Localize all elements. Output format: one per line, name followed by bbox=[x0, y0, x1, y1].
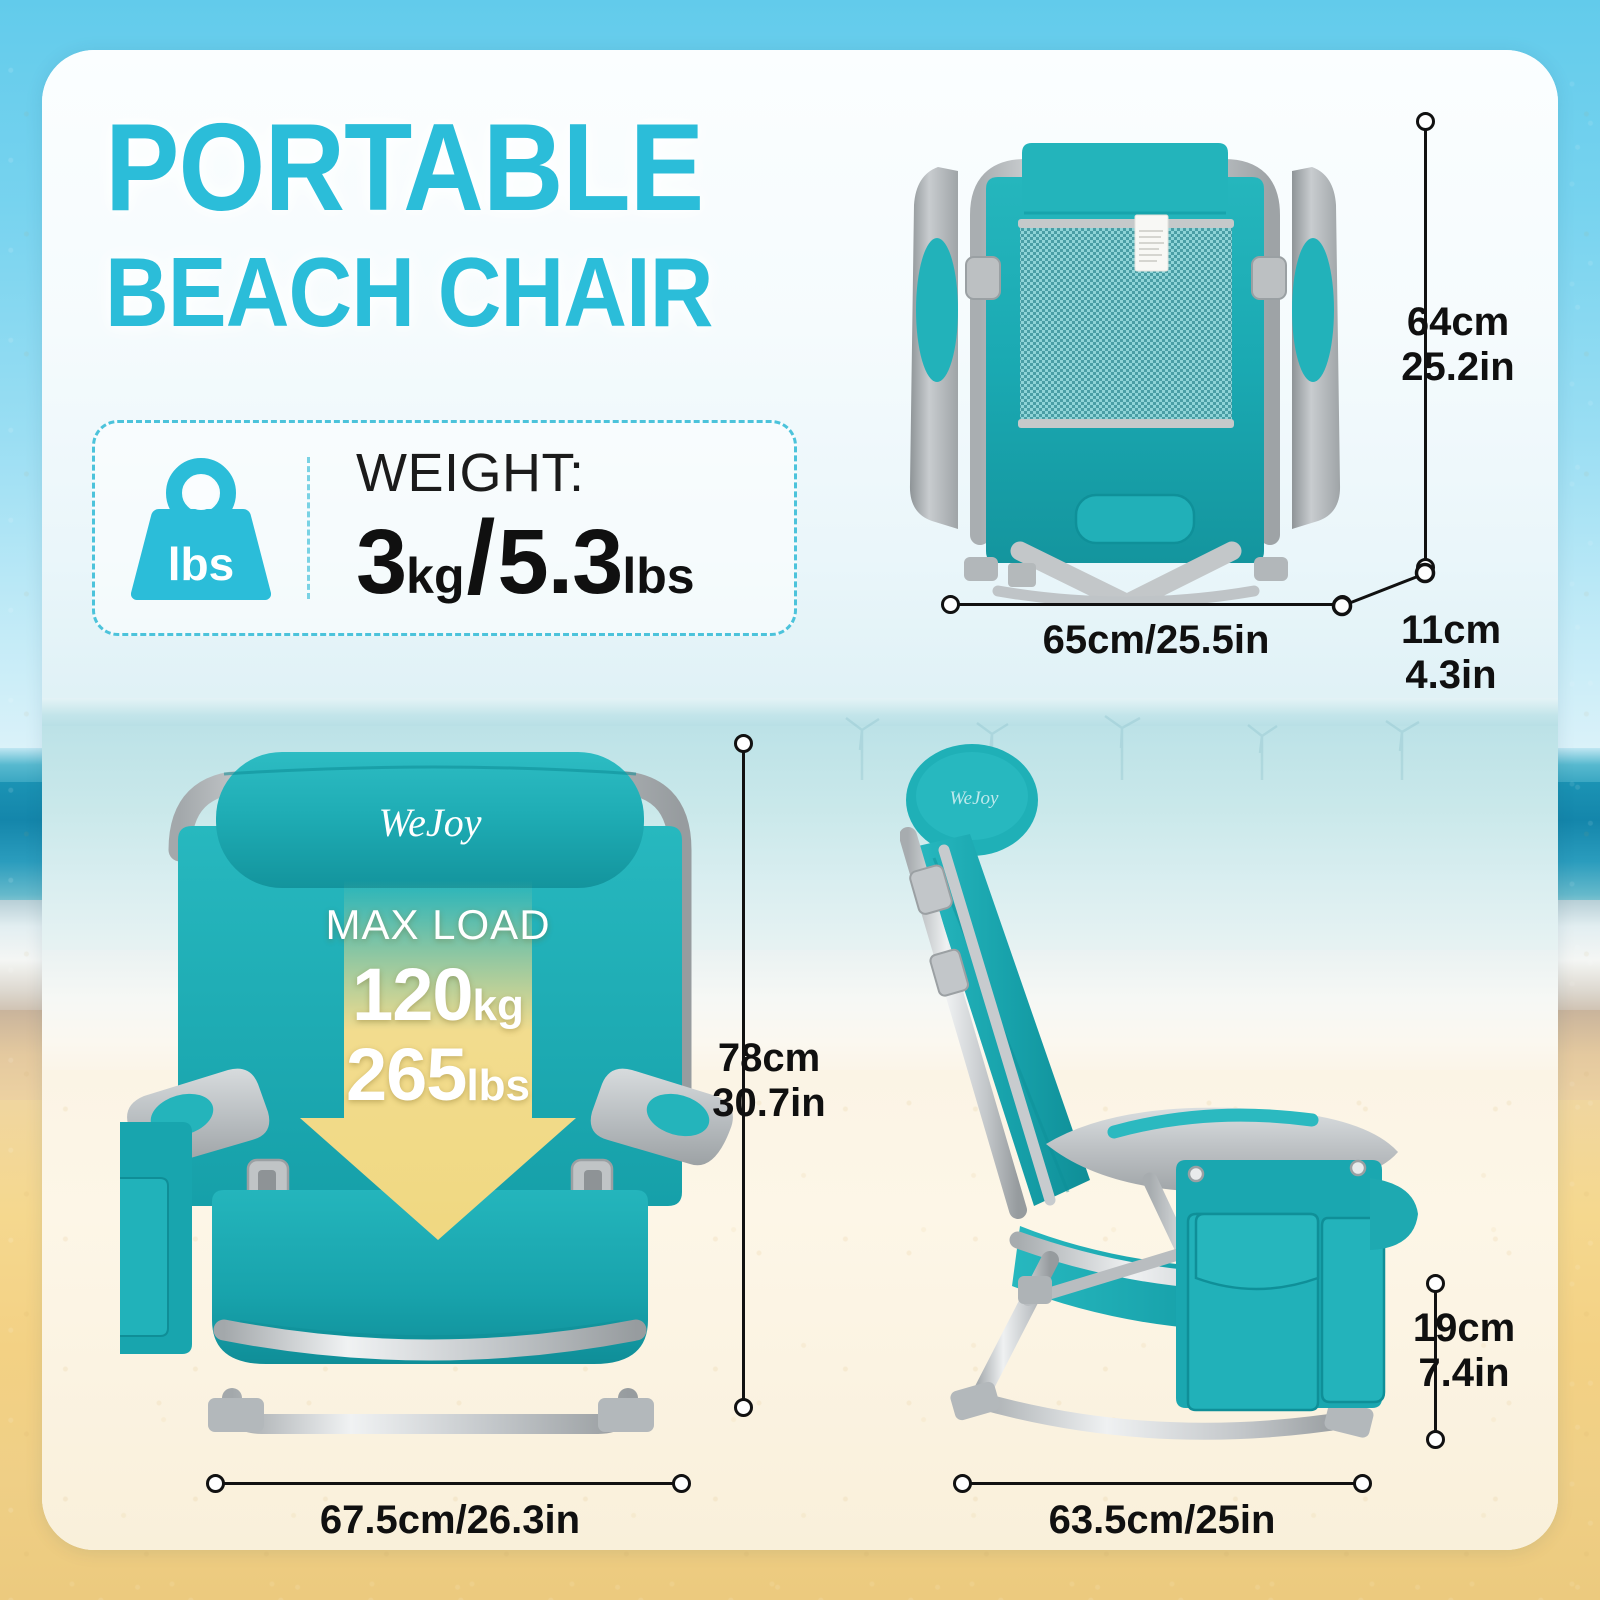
headrest-pillow: WeJoy bbox=[216, 752, 644, 888]
dim-dot-chair-height-top bbox=[734, 734, 753, 753]
weight-icon-container: lbs bbox=[95, 453, 307, 603]
mesh-back-panel bbox=[1020, 223, 1232, 423]
weight-icon-label: lbs bbox=[168, 538, 234, 590]
title-line-2: BEACH CHAIR bbox=[105, 241, 713, 344]
foot-left bbox=[964, 557, 998, 581]
weight-lbs-unit: lbs bbox=[622, 551, 694, 601]
foot-right bbox=[1254, 557, 1288, 581]
dim-dot-folded-width-left bbox=[941, 595, 960, 614]
weight-lbs-icon: lbs bbox=[131, 453, 271, 603]
folded-chair-back-view bbox=[880, 105, 1370, 605]
foot-pad-left bbox=[208, 1398, 264, 1432]
weight-kg-value: 3 bbox=[356, 516, 406, 608]
weight-label: WEIGHT: bbox=[356, 446, 794, 500]
dim-label-seat-height: 19cm 7.4in bbox=[1374, 1306, 1554, 1396]
side-pocket bbox=[120, 1122, 192, 1354]
dim-line-chair-depth bbox=[962, 1482, 1362, 1485]
dim-label-folded-width: 65cm/25.5in bbox=[1026, 618, 1286, 663]
dim-line-chair-width bbox=[215, 1482, 681, 1485]
care-label-tag bbox=[1135, 215, 1168, 271]
weight-text-container: WEIGHT: 3 kg / 5.3 lbs bbox=[310, 446, 794, 610]
dim-dot-folded-height-top bbox=[1416, 112, 1435, 131]
chair-front-view: WeJoy bbox=[120, 730, 740, 1450]
folded-pocket-flap bbox=[1076, 495, 1194, 543]
weight-value: 3 kg / 5.3 lbs bbox=[356, 506, 794, 610]
leg-bottom-rail bbox=[232, 1398, 628, 1424]
dim-line-folded-width bbox=[950, 603, 1342, 606]
side-rear-flap bbox=[1370, 1178, 1418, 1250]
dim-label-folded-height: 64cm 25.2in bbox=[1368, 300, 1548, 390]
dim-dot-chair-depth-right bbox=[1353, 1474, 1372, 1493]
dim-dot-chair-width-right bbox=[672, 1474, 691, 1493]
side-organizer-pocket bbox=[1176, 1160, 1384, 1410]
grommet-right bbox=[1351, 1161, 1365, 1175]
weight-spec-box: lbs WEIGHT: 3 kg / 5.3 lbs bbox=[92, 420, 797, 636]
armrest-pad-left bbox=[910, 167, 958, 529]
weight-kg-unit: kg bbox=[406, 551, 464, 601]
title-line-1: PORTABLE bbox=[105, 105, 713, 231]
dim-dot-seat-height-bottom bbox=[1426, 1430, 1445, 1449]
side-headrest-pillow: WeJoy bbox=[906, 744, 1038, 856]
armrest-pad-right bbox=[1292, 167, 1340, 529]
page-title: PORTABLE BEACH CHAIR bbox=[105, 105, 780, 344]
weight-separator: / bbox=[467, 506, 496, 610]
side-brace-clamp bbox=[1018, 1276, 1052, 1304]
chair-side-view: WeJoy bbox=[900, 740, 1420, 1450]
side-brand-logo: WeJoy bbox=[950, 788, 999, 809]
dim-label-chair-width: 67.5cm/26.3in bbox=[290, 1498, 610, 1543]
dim-dot-seat-height-top bbox=[1426, 1274, 1445, 1293]
dim-dot-chair-depth-left bbox=[953, 1474, 972, 1493]
brand-logo-text: WeJoy bbox=[379, 800, 482, 845]
weight-lbs-value: 5.3 bbox=[497, 516, 622, 608]
strap-buckle-left bbox=[1008, 563, 1036, 587]
dim-dot-chair-height-bottom bbox=[734, 1398, 753, 1417]
dim-label-chair-depth: 63.5cm/25in bbox=[1022, 1498, 1302, 1543]
grommet-left bbox=[1189, 1167, 1203, 1181]
dim-label-chair-height: 78cm 30.7in bbox=[674, 1036, 864, 1126]
dim-label-folded-depth: 11cm 4.3in bbox=[1356, 608, 1546, 698]
dim-dot-chair-width-left bbox=[206, 1474, 225, 1493]
foot-pad-right bbox=[598, 1398, 654, 1432]
side-foot-front bbox=[949, 1380, 1001, 1422]
